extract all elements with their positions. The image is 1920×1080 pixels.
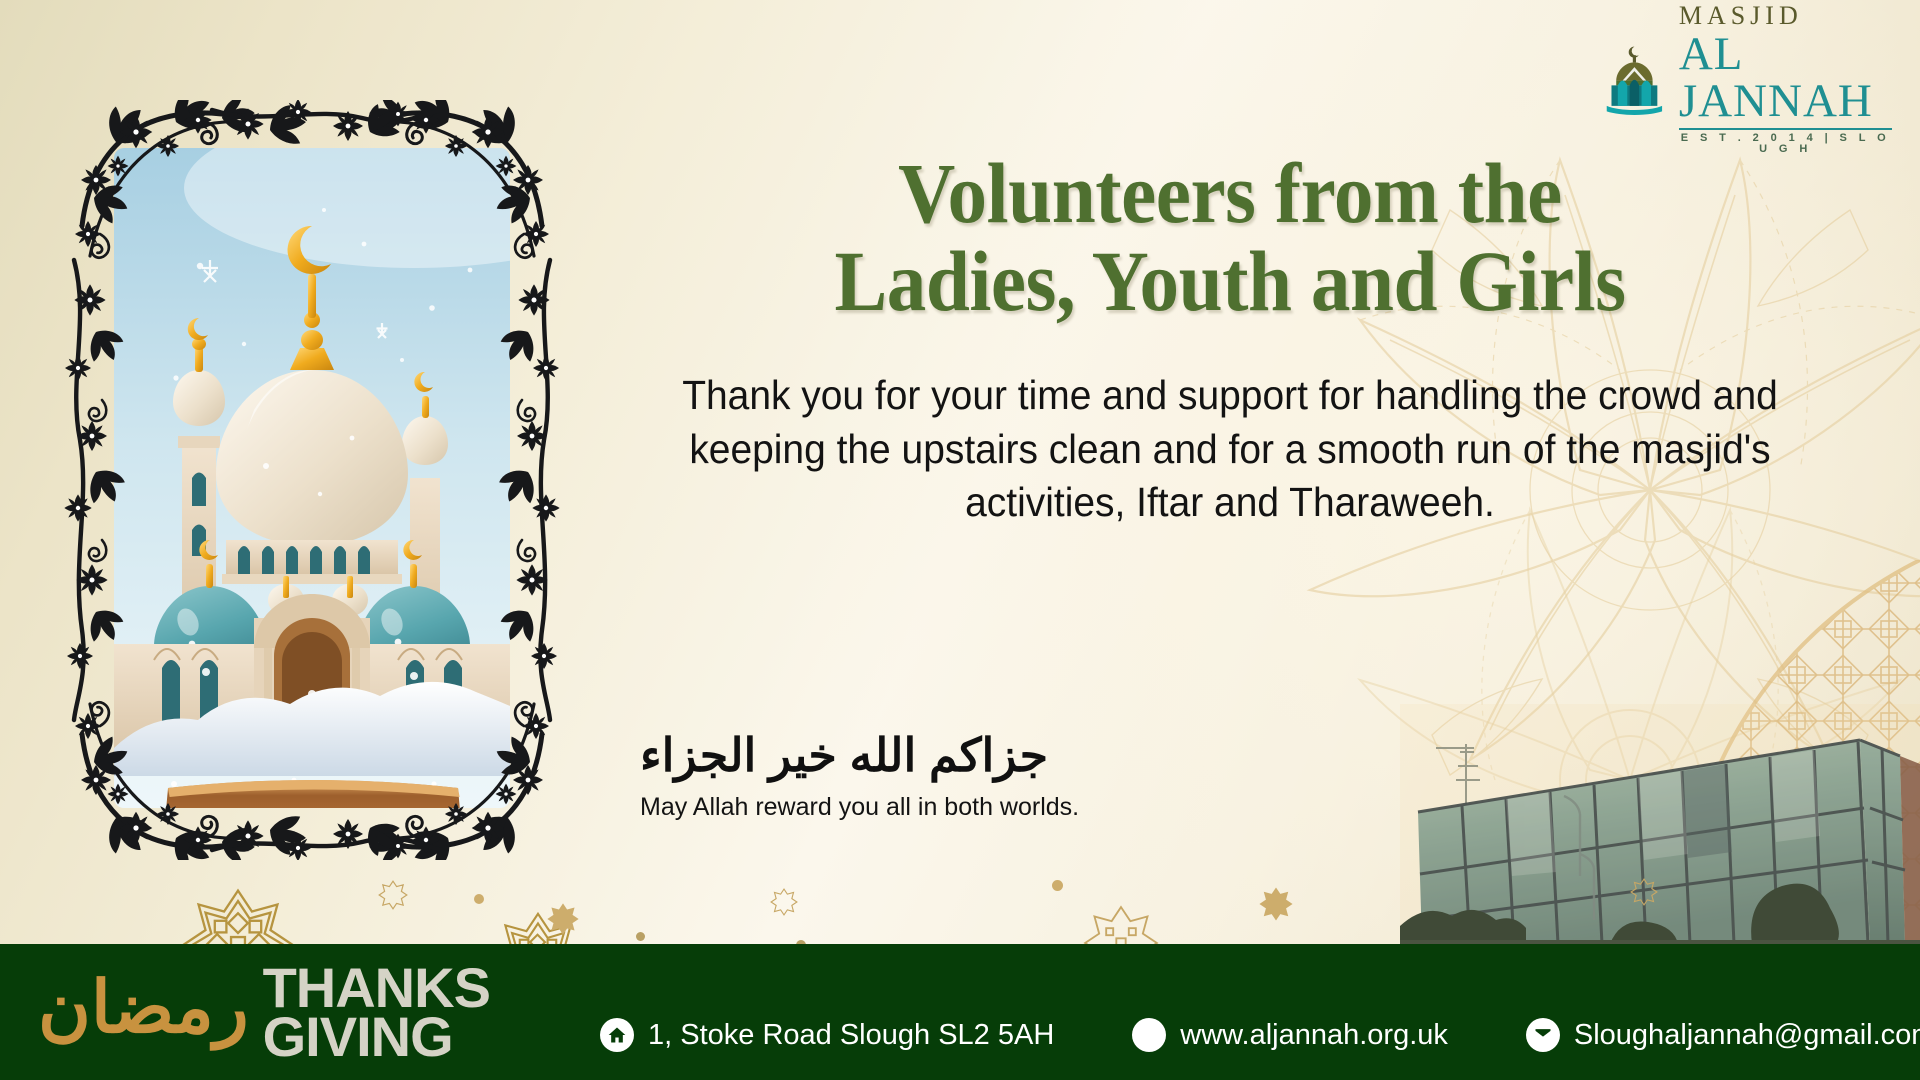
dua-block: جزاكم الله خير الجزاء May Allah reward y… [640,730,1340,822]
mosque-dome-icon [1602,34,1667,124]
contact-email-text: Sloughaljannah@gmail.com [1574,1019,1920,1052]
thanks-line-2: GIVING [263,1012,490,1061]
footer-bar: رمضان THANKS GIVING 1, Stoke Road Slough… [0,944,1920,1080]
dua-translation-text: May Allah reward you all in both worlds. [640,793,1340,822]
poster-canvas: MASJID AL JANNAH E S T . 2 0 1 4 | S L O… [0,0,1920,1080]
masjid-logo[interactable]: MASJID AL JANNAH E S T . 2 0 1 4 | S L O… [1602,24,1892,134]
home-icon [600,1018,634,1052]
dot-ornament [1052,880,1063,891]
page-title: Volunteers from the Ladies, Youth and Gi… [650,150,1809,325]
logo-line-masjid: MASJID [1679,3,1892,29]
small-star-outline-icon [770,888,798,916]
masjid-building-photo [1400,704,1920,944]
mail-icon [1526,1018,1560,1052]
contact-website[interactable]: www.aljannah.org.uk [1132,1018,1448,1052]
small-star-outline-icon [378,880,408,910]
thanksgiving-wordmark: THANKS GIVING [263,963,490,1062]
thanksgiving-lockup: رمضان THANKS GIVING [38,952,490,1072]
page-title-line-2: Ladies, Youth and Girls [687,238,1773,326]
contact-address[interactable]: 1, Stoke Road Slough SL2 5AH [600,1018,1054,1052]
main-content: Volunteers from the Ladies, Youth and Gi… [600,150,1860,529]
dot-ornament [474,894,484,904]
contact-row: 1, Stoke Road Slough SL2 5AH www.aljanna… [600,944,1900,1080]
globe-icon [1132,1018,1166,1052]
small-star-solid-icon [546,902,580,936]
dot-ornament [636,932,645,941]
body-paragraph: Thank you for your time and support for … [632,369,1829,529]
contact-address-text: 1, Stoke Road Slough SL2 5AH [648,1019,1054,1052]
page-title-line-1: Volunteers from the [687,150,1773,238]
small-star-solid-icon [1258,886,1294,922]
mosque-illustration-card [62,100,562,860]
logo-wordmark: MASJID AL JANNAH E S T . 2 0 1 4 | S L O… [1679,3,1892,155]
floral-vine-border [62,100,562,860]
logo-divider [1679,128,1892,130]
contact-website-text: www.aljannah.org.uk [1180,1019,1448,1052]
logo-line-aljannah: AL JANNAH [1679,31,1892,125]
dua-arabic-text: جزاكم الله خير الجزاء [640,730,1340,781]
ramadan-arabic-text: رمضان [38,972,249,1044]
contact-email[interactable]: Sloughaljannah@gmail.com [1526,1018,1920,1052]
